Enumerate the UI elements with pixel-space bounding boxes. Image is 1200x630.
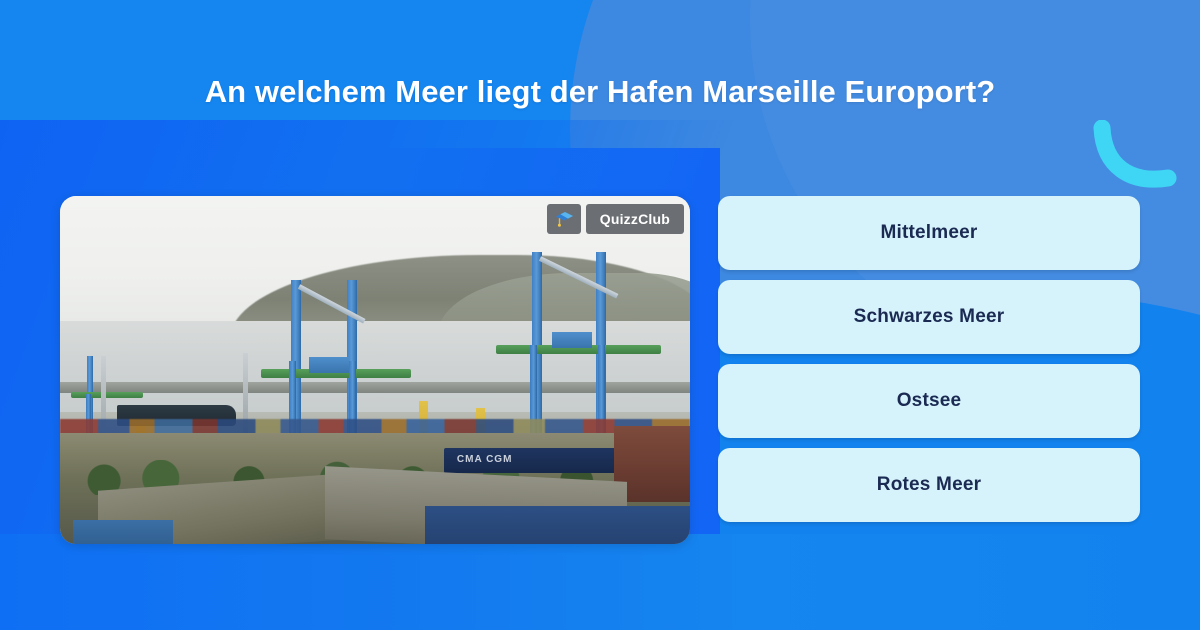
background-bottom-band xyxy=(0,534,1200,630)
quiz-card: An welchem Meer liegt der Hafen Marseill… xyxy=(0,0,1200,630)
answer-option-3[interactable]: Ostsee xyxy=(718,364,1140,438)
watermark: QuizzClub xyxy=(547,204,684,234)
watermark-brand: QuizzClub xyxy=(586,204,684,234)
answer-options: Mittelmeer Schwarzes Meer Ostsee Rotes M… xyxy=(718,196,1140,522)
page-title: An welchem Meer liegt der Hafen Marseill… xyxy=(0,72,1200,112)
question-image: CMA CGM QuizzClub xyxy=(60,196,690,544)
answer-option-2-label: Schwarzes Meer xyxy=(854,306,1005,328)
photo-shipping-line-label: CMA CGM xyxy=(457,454,513,465)
answer-option-3-label: Ostsee xyxy=(897,390,962,412)
photo-blue-container-row xyxy=(425,506,690,544)
answer-option-4-label: Rotes Meer xyxy=(877,474,981,496)
answer-option-4[interactable]: Rotes Meer xyxy=(718,448,1140,522)
photo-blue-container-small xyxy=(73,520,174,544)
graduation-cap-icon xyxy=(547,204,581,234)
answer-option-2[interactable]: Schwarzes Meer xyxy=(718,280,1140,354)
answer-option-1-label: Mittelmeer xyxy=(880,222,977,244)
harbor-photo: CMA CGM xyxy=(60,196,690,544)
answer-option-1[interactable]: Mittelmeer xyxy=(718,196,1140,270)
cyan-arc-icon xyxy=(1090,120,1182,198)
